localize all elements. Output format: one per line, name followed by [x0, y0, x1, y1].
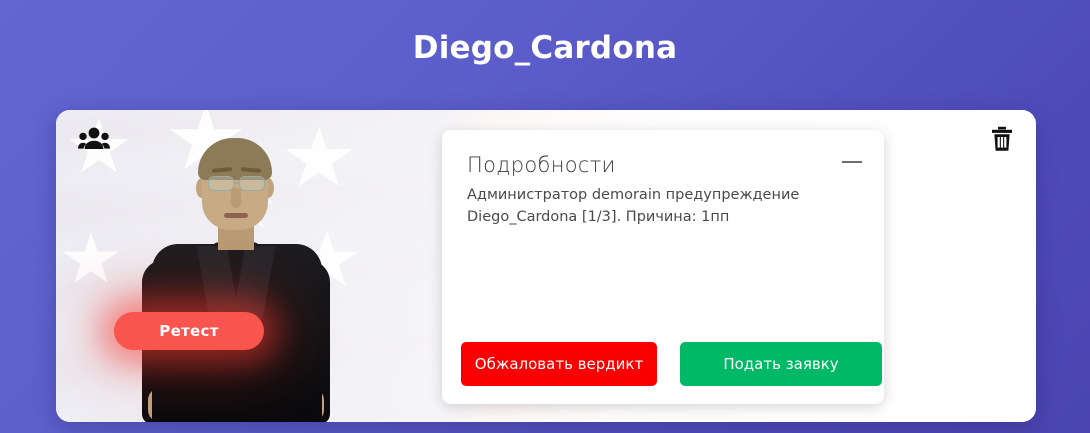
- retest-button[interactable]: Ретест: [114, 312, 264, 350]
- submit-request-button[interactable]: Подать заявку: [680, 342, 882, 386]
- details-body-text: Администратор demorain предупреждение Di…: [467, 184, 860, 228]
- minus-icon[interactable]: [842, 161, 862, 163]
- trash-icon[interactable]: [985, 122, 1019, 156]
- details-actions: Обжаловать вердикт Подать заявку: [461, 342, 882, 386]
- avatar: [114, 120, 354, 422]
- page-title: Diego_Cardona: [0, 28, 1090, 68]
- details-panel: Подробности Администратор demorain преду…: [442, 130, 884, 404]
- details-header: Подробности: [467, 150, 862, 180]
- details-title: Подробности: [467, 150, 862, 180]
- appeal-verdict-button[interactable]: Обжаловать вердикт: [461, 342, 657, 386]
- profile-card: Ретест Подробности Администратор demorai…: [56, 110, 1036, 422]
- users-group-icon[interactable]: [74, 122, 114, 156]
